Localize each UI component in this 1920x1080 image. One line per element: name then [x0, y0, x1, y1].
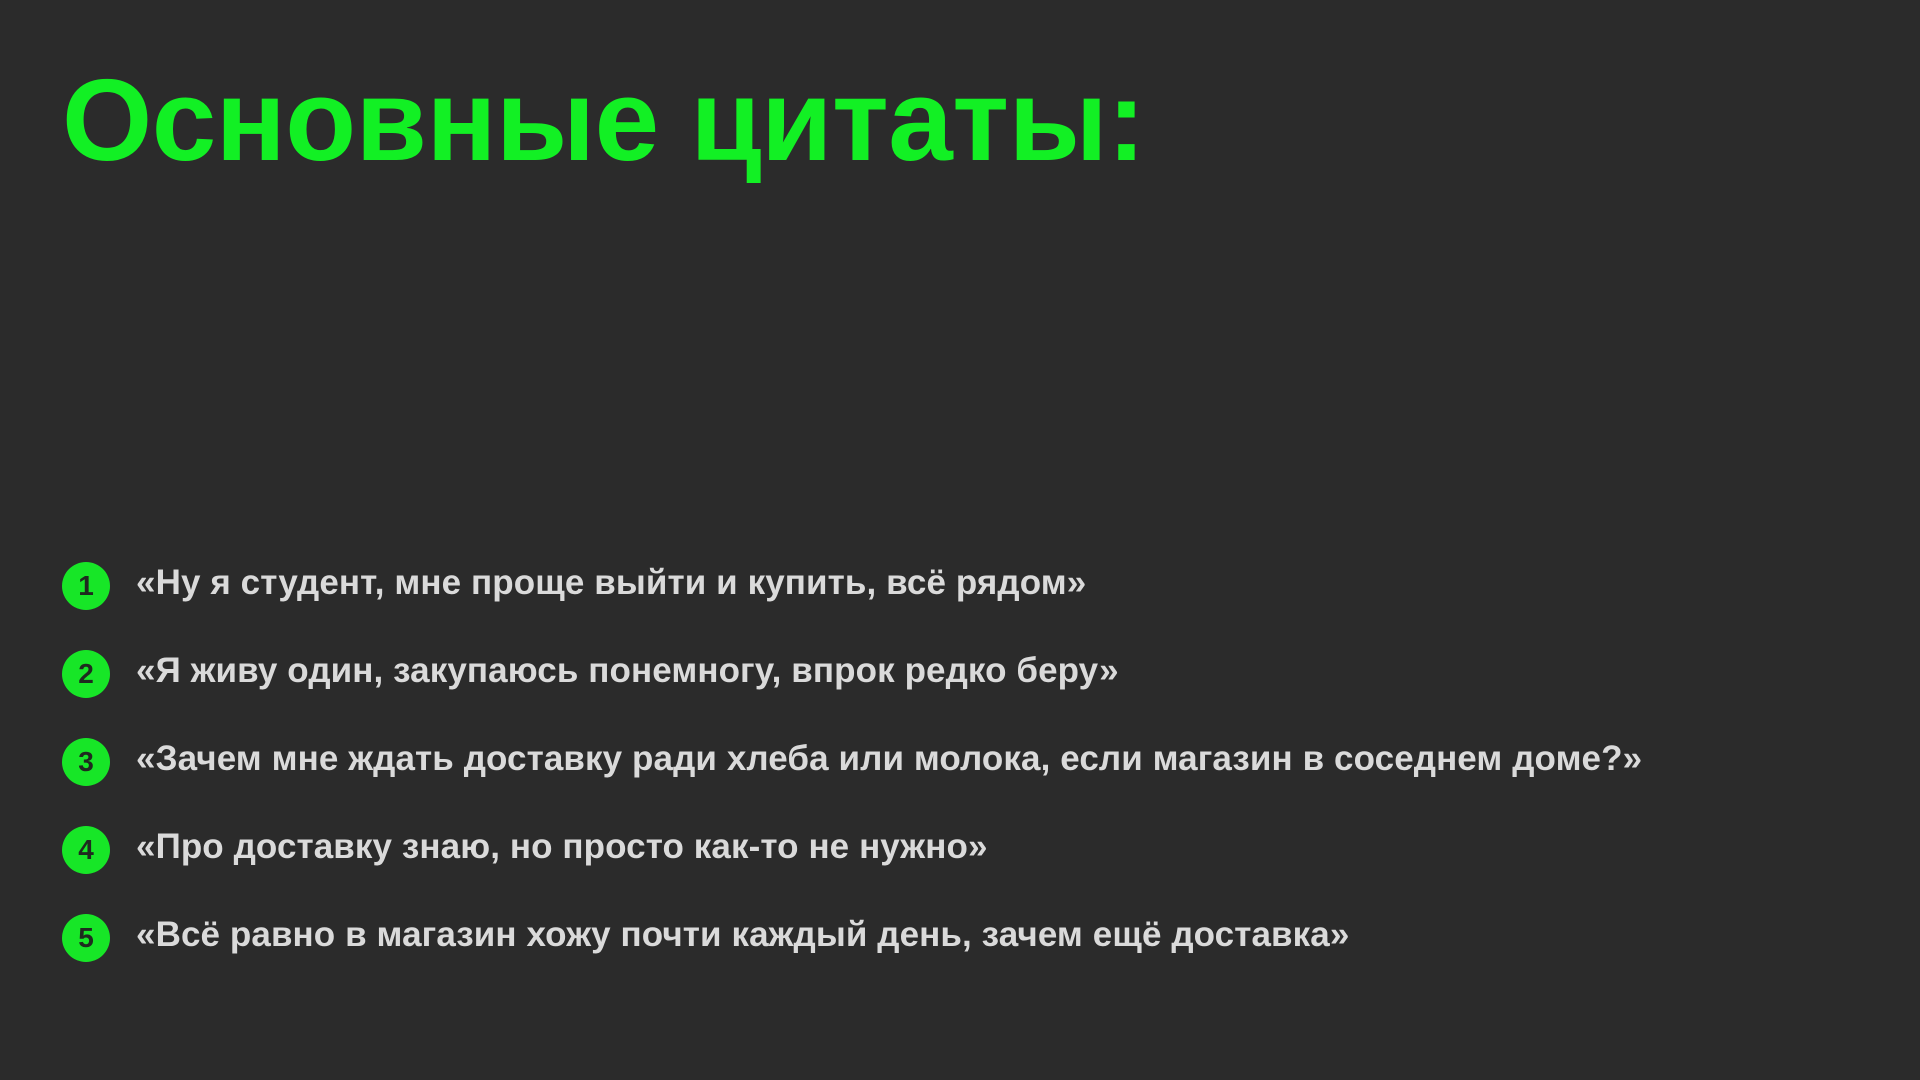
list-item: 4 «Про доставку знаю, но просто как-то н… — [62, 824, 1822, 874]
quote-text: «Я живу один, закупаюсь понемногу, впрок… — [136, 648, 1796, 694]
page-title: Основные цитаты: — [62, 58, 1145, 183]
quote-number-badge: 5 — [62, 914, 110, 962]
quote-list: 1 «Ну я студент, мне проще выйти и купит… — [62, 560, 1822, 962]
slide-root: Основные цитаты: 1 «Ну я студент, мне пр… — [0, 0, 1920, 1080]
list-item: 3 «Зачем мне ждать доставку ради хлеба и… — [62, 736, 1822, 786]
quote-number-badge: 3 — [62, 738, 110, 786]
quote-number-badge: 1 — [62, 562, 110, 610]
quote-text: «Зачем мне ждать доставку ради хлеба или… — [136, 736, 1796, 782]
list-item: 2 «Я живу один, закупаюсь понемногу, впр… — [62, 648, 1822, 698]
quote-text: «Про доставку знаю, но просто как-то не … — [136, 824, 1796, 870]
quote-number-badge: 2 — [62, 650, 110, 698]
quote-number-badge: 4 — [62, 826, 110, 874]
list-item: 1 «Ну я студент, мне проще выйти и купит… — [62, 560, 1822, 610]
list-item: 5 «Всё равно в магазин хожу почти каждый… — [62, 912, 1822, 962]
quote-text: «Всё равно в магазин хожу почти каждый д… — [136, 912, 1796, 958]
quote-text: «Ну я студент, мне проще выйти и купить,… — [136, 560, 1796, 606]
